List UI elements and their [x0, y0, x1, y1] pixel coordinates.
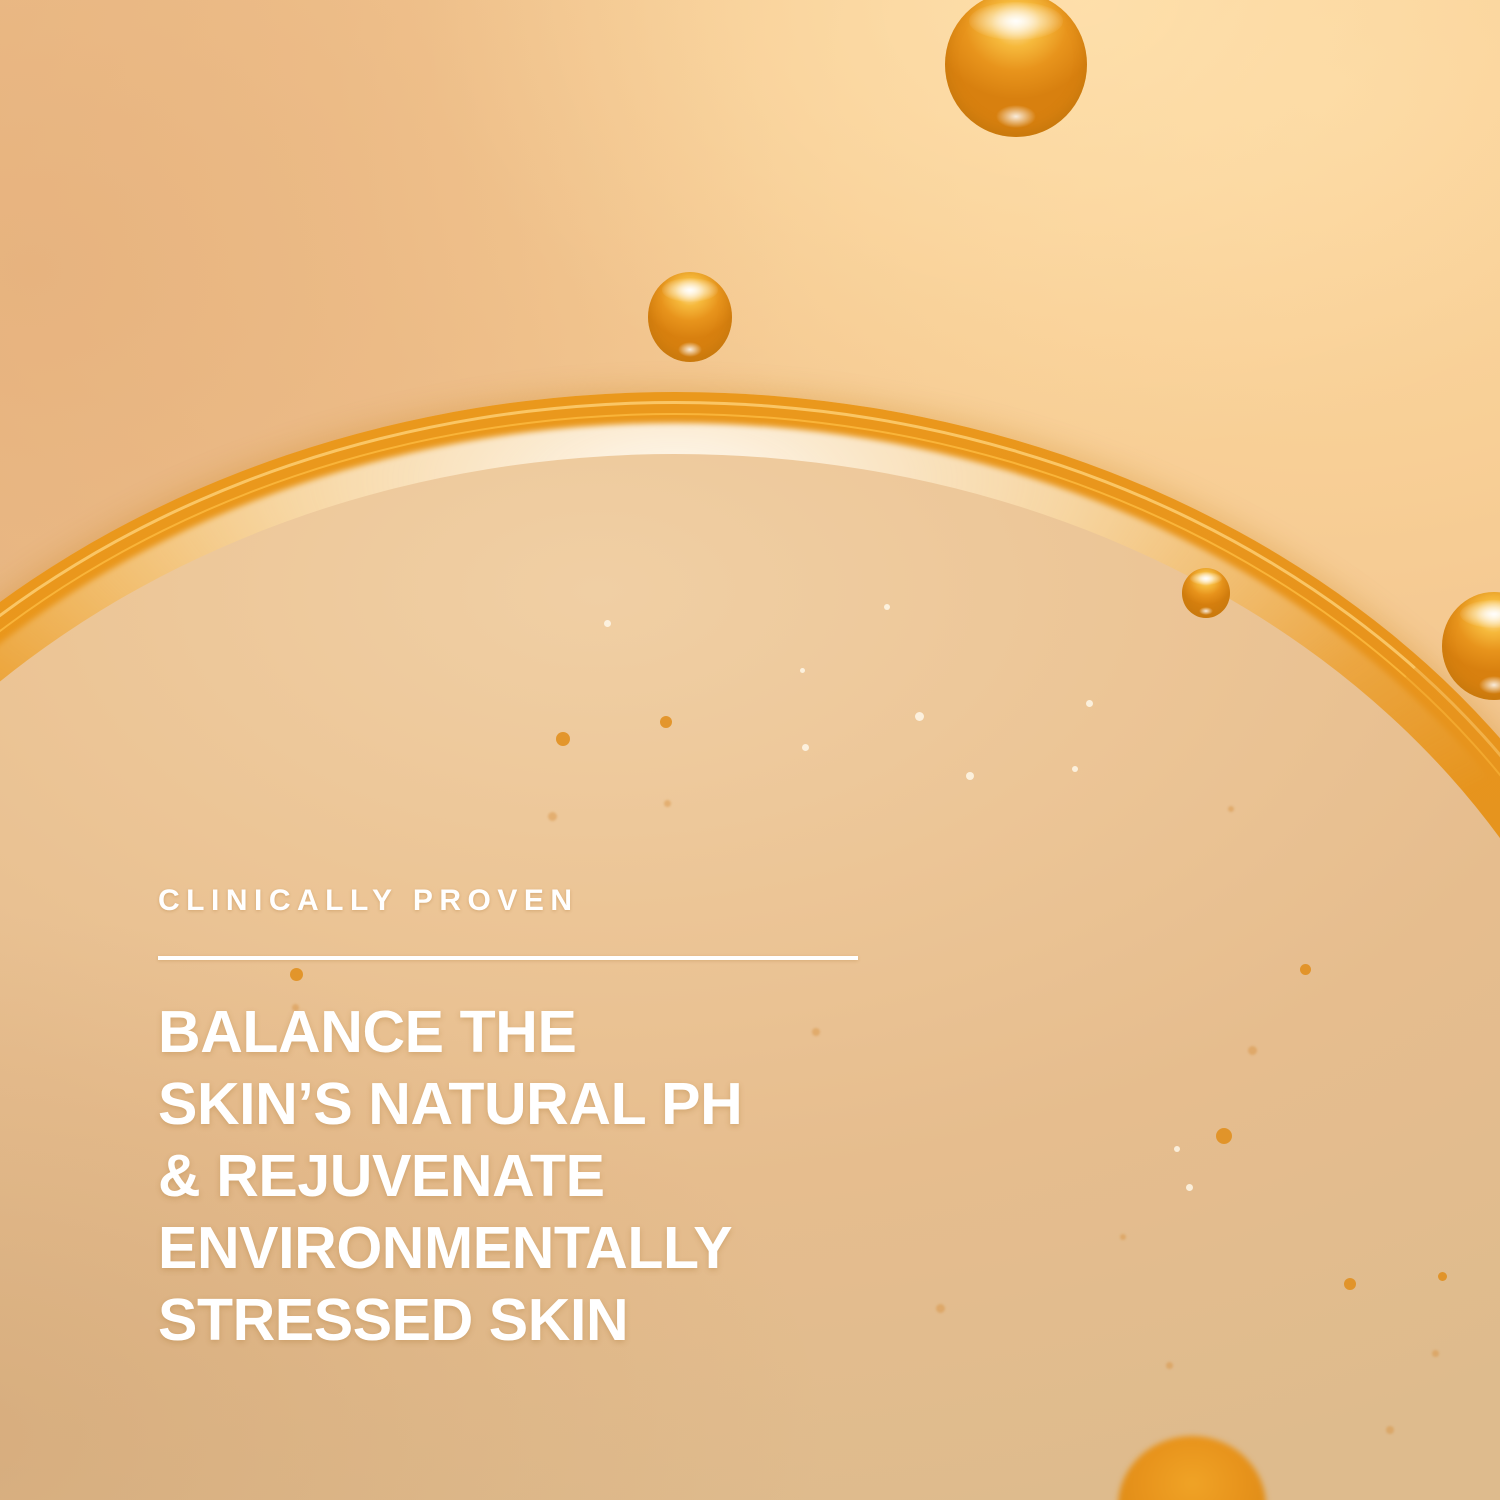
- gel-speck-14: [1300, 964, 1311, 975]
- headline-line-4: ENVIRONMENTALLY: [158, 1212, 1098, 1284]
- headline-line-1: BALANCE THE: [158, 996, 1098, 1068]
- headline: BALANCE THESKIN’S NATURAL PH& REJUVENATE…: [158, 996, 1098, 1356]
- gel-speck-15: [1216, 1128, 1232, 1144]
- gel-speck-8: [556, 732, 570, 746]
- gel-speck-18: [1186, 1184, 1193, 1191]
- gel-speck-2: [884, 604, 890, 610]
- gel-speck-26: [1120, 1234, 1126, 1240]
- gel-speck-6: [802, 744, 809, 751]
- gel-speck-5: [966, 772, 974, 780]
- headline-line-5: STRESSED SKIN: [158, 1284, 1098, 1356]
- marketing-image-canvas: CLINICALLY PROVEN BALANCE THESKIN’S NATU…: [0, 0, 1500, 1500]
- gel-speck-24: [1174, 1146, 1180, 1152]
- gel-speck-11: [1086, 700, 1093, 707]
- eyebrow-label: CLINICALLY PROVEN: [158, 886, 1098, 916]
- gel-speck-27: [1166, 1362, 1173, 1369]
- headline-line-3: & REJUVENATE: [158, 1140, 1098, 1212]
- gel-speck-9: [548, 812, 557, 821]
- gel-speck-13: [1228, 806, 1234, 812]
- gel-speck-19: [1432, 1350, 1439, 1357]
- gel-speck-3: [800, 668, 805, 673]
- gel-speck-23: [1248, 1046, 1257, 1055]
- gel-speck-1: [604, 620, 611, 627]
- oil-droplet-small: [1182, 568, 1230, 618]
- gel-speck-7: [660, 716, 672, 728]
- gel-speck-12: [1072, 766, 1078, 772]
- gel-speck-16: [1344, 1278, 1356, 1290]
- copy-block: CLINICALLY PROVEN BALANCE THESKIN’S NATU…: [158, 886, 1098, 1356]
- oil-droplet-medium: [648, 272, 732, 362]
- gel-speck-28: [1386, 1426, 1394, 1434]
- divider-rule: [158, 956, 858, 960]
- gel-speck-10: [664, 800, 671, 807]
- headline-line-2: SKIN’S NATURAL PH: [158, 1068, 1098, 1140]
- gel-speck-4: [915, 712, 924, 721]
- gel-speck-17: [1438, 1272, 1447, 1281]
